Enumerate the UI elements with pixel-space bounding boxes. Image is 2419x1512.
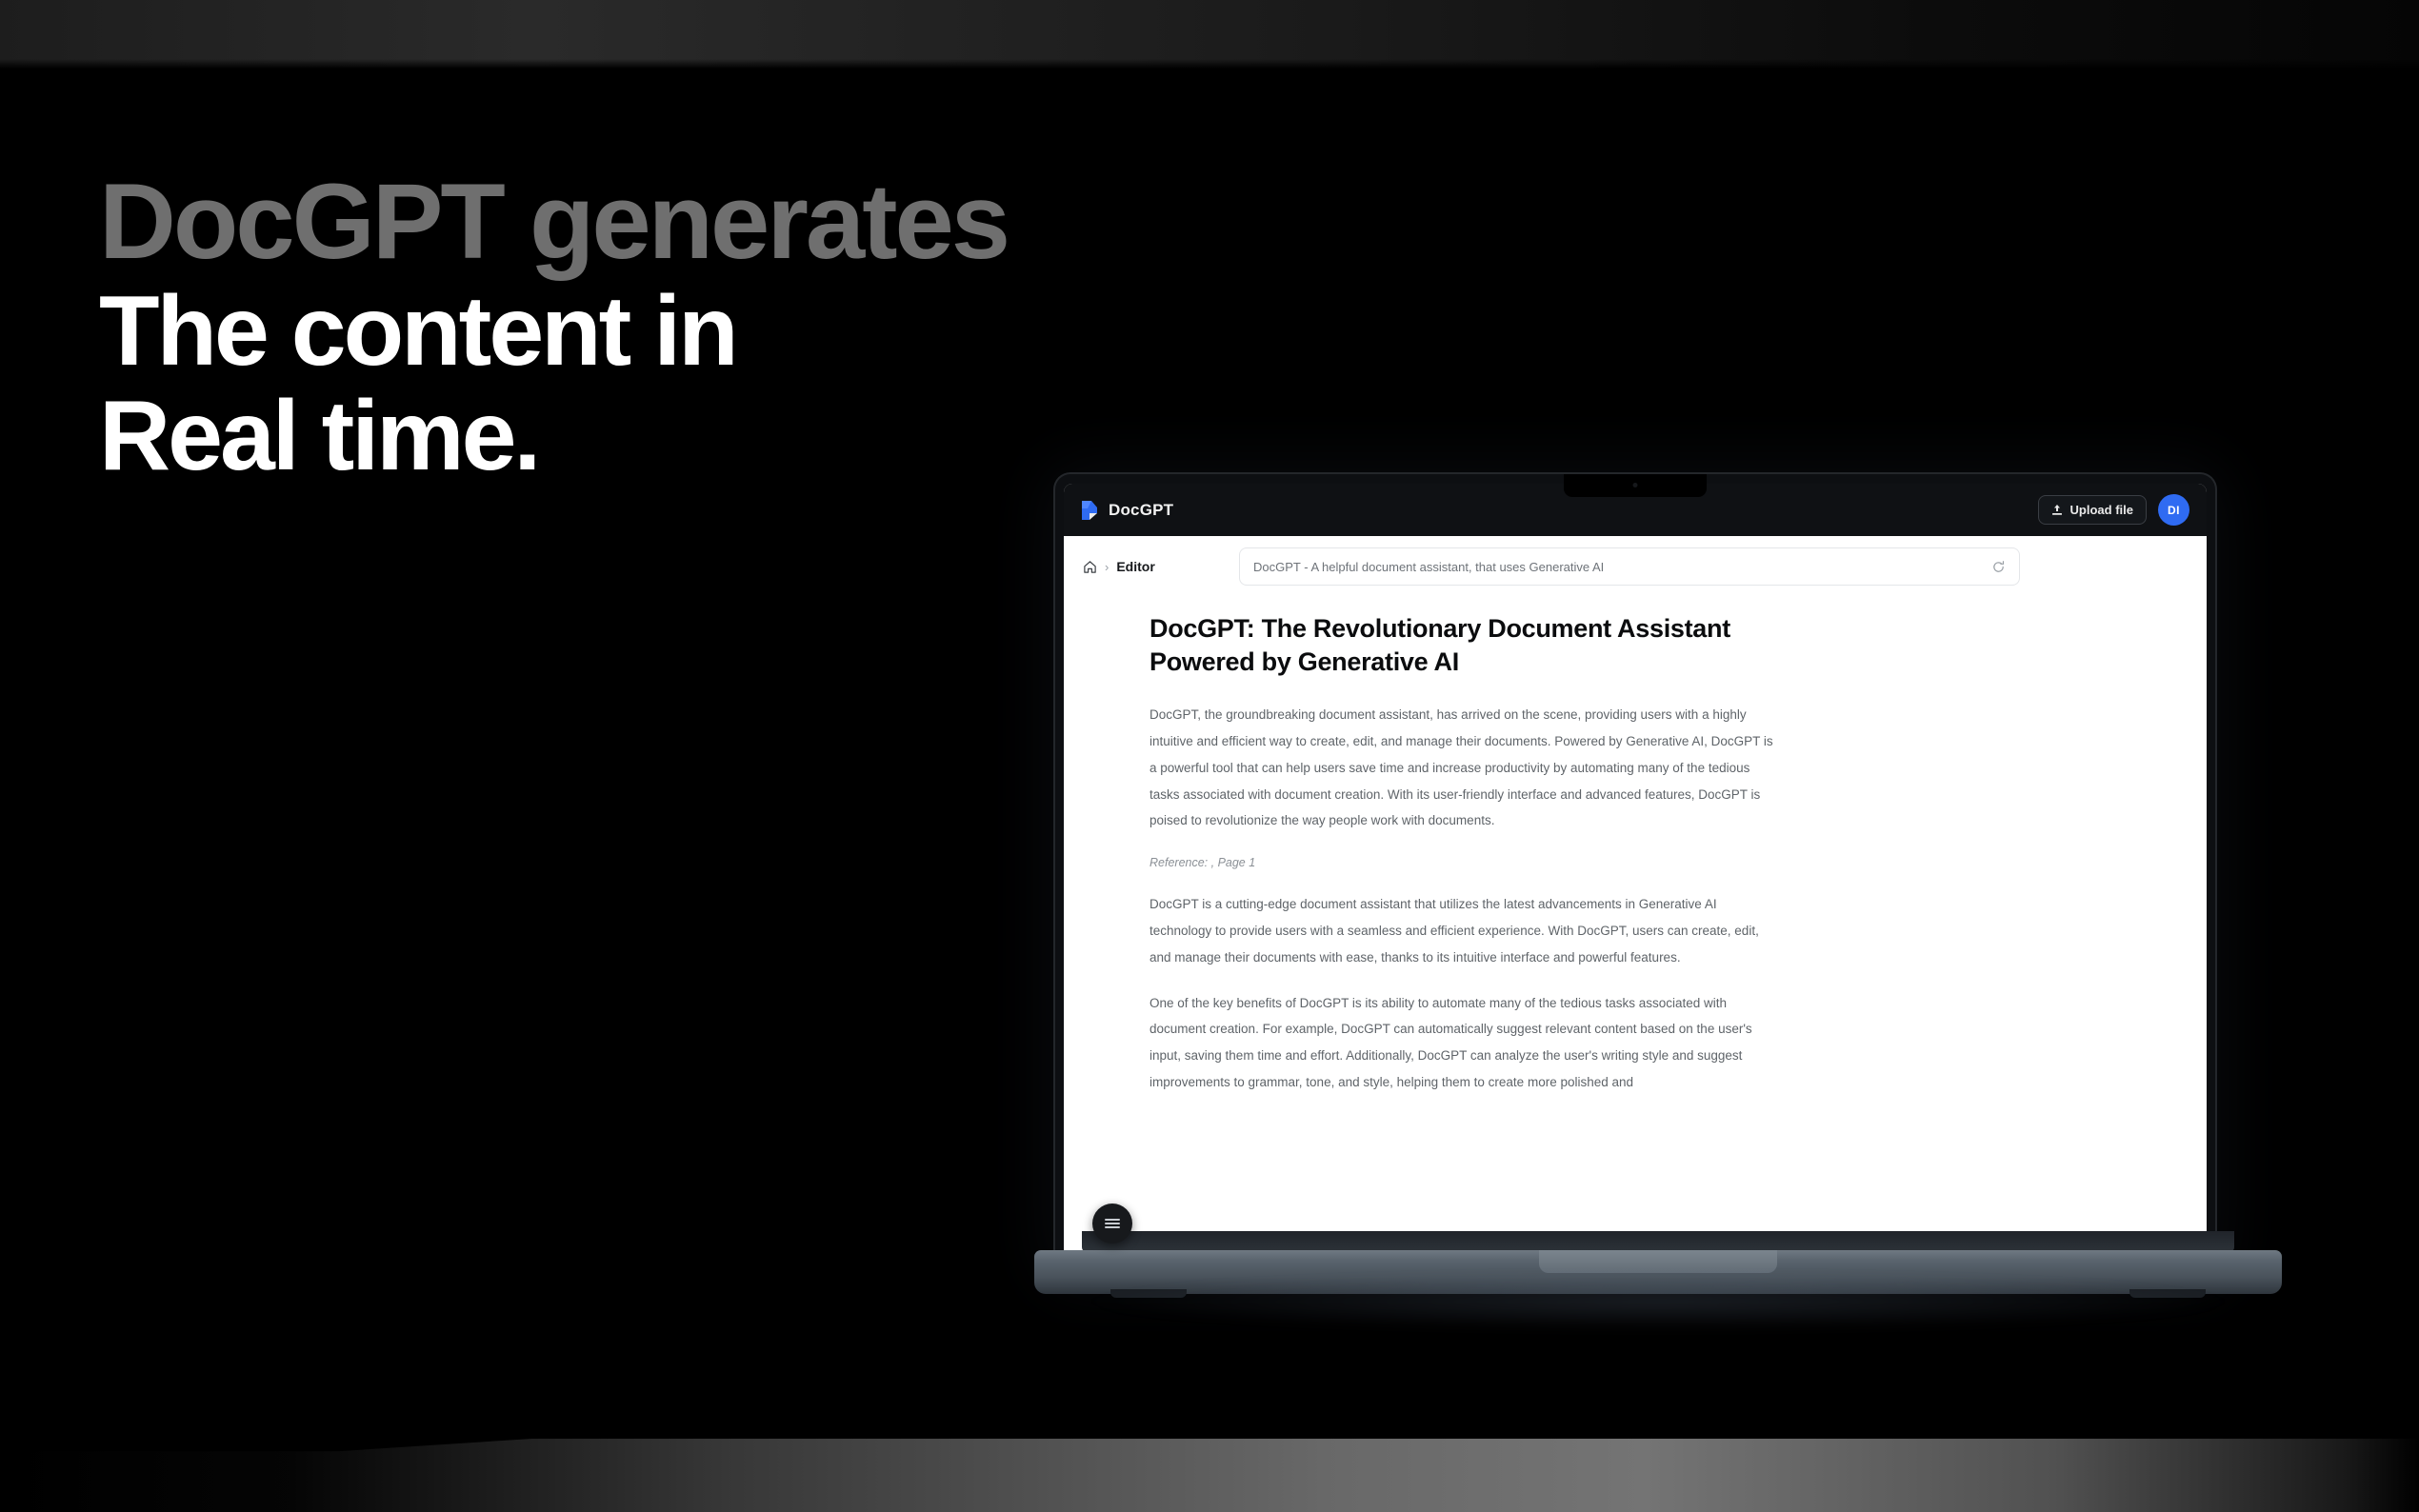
breadcrumb: › Editor [1083, 559, 1224, 574]
promo-slide: DocGPT generates The content in Real tim… [0, 0, 2419, 1512]
headline-line-1: DocGPT generates [99, 169, 1242, 274]
avatar[interactable]: DI [2158, 494, 2189, 526]
top-ambient-band [0, 0, 2419, 69]
sub-bar: › Editor DocGPT - A helpful document ass… [1064, 536, 2207, 597]
docgpt-logo-icon [1079, 499, 1100, 522]
headline-line-3: Real time. [99, 388, 1242, 486]
upload-file-button[interactable]: Upload file [2038, 495, 2147, 525]
headline-line-2: The content in [99, 284, 1242, 381]
document-paragraph: DocGPT is a cutting-edge document assist… [1150, 891, 1778, 970]
hamburger-bar [1105, 1223, 1120, 1224]
document-paragraph: DocGPT, the groundbreaking document assi… [1150, 702, 1778, 834]
laptop-mockup: DocGPT Upload file DI [1034, 474, 2282, 1298]
laptop-lid: DocGPT Upload file DI [1055, 474, 2215, 1274]
display-notch [1564, 474, 1707, 497]
breadcrumb-current[interactable]: Editor [1116, 559, 1154, 574]
app-screen: DocGPT Upload file DI [1064, 484, 2207, 1261]
search-input-value: DocGPT - A helpful document assistant, t… [1253, 560, 1991, 574]
hamburger-menu-icon[interactable] [1092, 1204, 1132, 1243]
laptop-glow [1072, 1273, 2244, 1330]
hamburger-bar [1105, 1219, 1120, 1221]
laptop-base-lip [1539, 1250, 1777, 1273]
home-icon[interactable] [1083, 560, 1097, 574]
brand-name: DocGPT [1109, 501, 1173, 520]
upload-file-label: Upload file [2070, 503, 2133, 517]
headline-block: DocGPT generates The content in Real tim… [99, 169, 1242, 493]
breadcrumb-separator-icon: › [1105, 560, 1109, 574]
document-reference: Reference: , Page 1 [1150, 853, 1778, 872]
search-input[interactable]: DocGPT - A helpful document assistant, t… [1239, 547, 2020, 586]
refresh-spinner-icon[interactable] [1991, 560, 2006, 574]
laptop-hinge [1082, 1231, 2234, 1252]
brand[interactable]: DocGPT [1079, 499, 1173, 522]
upload-icon [2051, 504, 2063, 516]
document-paragraph: One of the key benefits of DocGPT is its… [1150, 990, 1778, 1096]
document-body[interactable]: DocGPT: The Revolutionary Document Assis… [1064, 597, 2207, 1261]
bottom-ambient-band [0, 1407, 2419, 1512]
webcam-dot [1633, 483, 1638, 487]
document-title: DocGPT: The Revolutionary Document Assis… [1150, 612, 1759, 679]
top-bar-actions: Upload file DI [2038, 494, 2189, 526]
hamburger-bar [1105, 1226, 1120, 1228]
